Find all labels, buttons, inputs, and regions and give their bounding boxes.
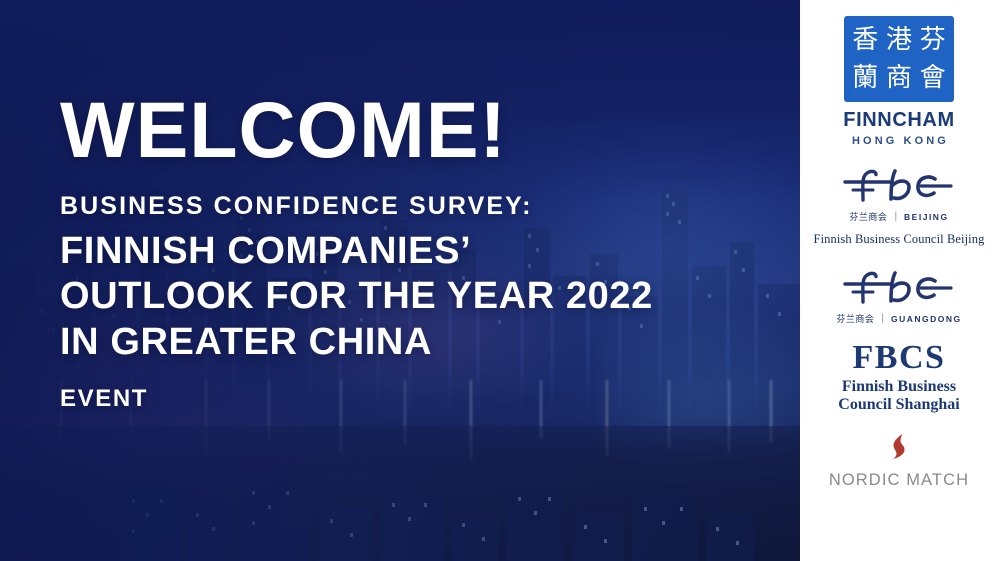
welcome-title: WELCOME!	[60, 92, 760, 168]
seal-char: 芬	[916, 21, 949, 59]
seal-char: 蘭	[849, 60, 882, 98]
seal-char: 會	[916, 60, 949, 98]
fbcs-acronym: FBCS	[853, 341, 946, 375]
hero-photo-panel: WELCOME! BUSINESS CONFIDENCE SURVEY: FIN…	[0, 0, 800, 561]
finncham-seal-icon: 香 港 芬 蘭 商 會	[844, 16, 954, 102]
seal-char: 商	[883, 60, 916, 98]
slide-root: WELCOME! BUSINESS CONFIDENCE SURVEY: FIN…	[0, 0, 998, 561]
headline-line-2: OUTLOOK FOR THE YEAR 2022	[60, 274, 760, 320]
headline-block: FINNISH COMPANIES’ OUTLOOK FOR THE YEAR …	[60, 229, 760, 366]
logo-fbc-beijing: 芬兰商会 | BEIJING Finnish Business Council …	[814, 165, 985, 247]
fbcs-name-line-1: Finnish Business	[842, 378, 956, 396]
fbc-beijing-full-name: Finnish Business Council Beijing	[814, 232, 985, 247]
flame-icon	[889, 433, 909, 463]
finncham-wordmark: FINNCHAM	[843, 109, 954, 132]
fbc-script-icon	[839, 267, 959, 309]
nordic-match-wordmark: NORDIC MATCH	[829, 471, 969, 490]
logo-fbc-guangdong: 芬兰商会 | GUANGDONG	[836, 267, 961, 325]
logo-fbcs-shanghai: FBCS Finnish Business Council Shanghai	[838, 341, 959, 415]
headline-line-1: FINNISH COMPANIES’	[60, 229, 760, 275]
fbc-city-label: GUANGDONG	[891, 314, 962, 324]
fbc-divider: |	[881, 313, 884, 324]
logo-finncham-hong-kong: 香 港 芬 蘭 商 會 FINNCHAM HONG KONG	[843, 16, 954, 147]
finncham-location: HONG KONG	[849, 135, 949, 147]
hero-copy: WELCOME! BUSINESS CONFIDENCE SURVEY: FIN…	[60, 92, 760, 413]
fbc-guangdong-subline: 芬兰商会 | GUANGDONG	[836, 312, 961, 325]
logo-rail: 香 港 芬 蘭 商 會 FINNCHAM HONG KONG	[800, 0, 998, 561]
fbc-beijing-subline: 芬兰商会 | BEIJING	[849, 210, 948, 223]
fbcs-name-line-2: Council Shanghai	[838, 396, 959, 414]
event-label: EVENT	[60, 385, 760, 413]
seal-char: 港	[883, 21, 916, 59]
seal-char: 香	[849, 21, 882, 59]
logo-nordic-match: NORDIC MATCH	[829, 433, 969, 490]
fbc-city-label: BEIJING	[904, 212, 949, 222]
fbc-script-icon	[839, 165, 959, 207]
headline-line-3: IN GREATER CHINA	[60, 320, 760, 366]
fbc-divider: |	[894, 211, 897, 222]
fbc-chinese-name: 芬兰商会	[849, 210, 887, 223]
survey-kicker: BUSINESS CONFIDENCE SURVEY:	[60, 192, 760, 220]
fbc-chinese-name: 芬兰商会	[836, 312, 874, 325]
